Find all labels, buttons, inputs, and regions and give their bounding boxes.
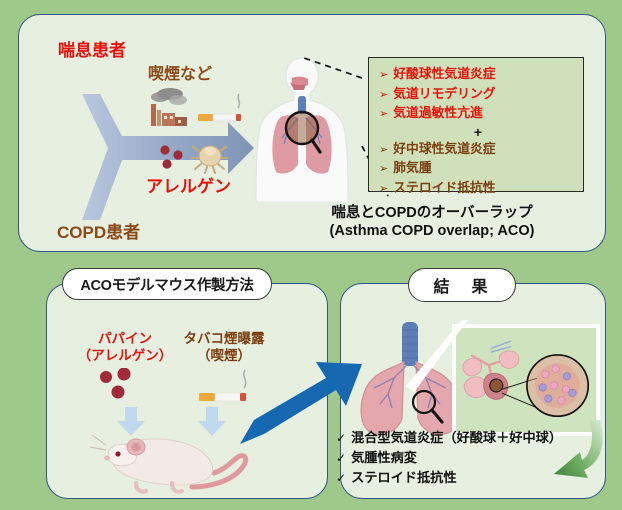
chevron-icon: ➢ xyxy=(379,181,388,199)
chevron-icon: ➢ xyxy=(379,87,388,105)
laboratory-mouse-icon xyxy=(84,425,252,497)
finding-item: ✓ 混合型気道炎症（好酸球＋好中球） xyxy=(336,428,576,448)
features-list-eosinophilic: ➢ 好酸球性気道炎症 ➢ 気道リモデリング ➢ 気道過敏性亢進 xyxy=(379,65,577,124)
dust-mite-icon xyxy=(190,140,230,174)
allergen-label: アレルゲン xyxy=(146,172,231,197)
papain-line-2: （アレルゲン） xyxy=(70,347,180,364)
caption-line-2: (Asthma COPD overlap; ACO) xyxy=(262,222,602,240)
chevron-icon: ➢ xyxy=(379,67,388,85)
copd-patient-label: COPD患者 xyxy=(57,218,140,243)
cigarette-icon xyxy=(195,90,245,128)
tobacco-line-1: タバコ煙曝露 xyxy=(168,330,280,347)
feature-item: ➢ 気道リモデリング xyxy=(379,85,577,105)
factory-smoke-icon xyxy=(144,86,192,128)
smoking-label: 喫煙など xyxy=(148,60,212,84)
figure-canvas: 喘息患者 喫煙など アレルゲン COPD患者 xyxy=(0,0,622,510)
check-icon: ✓ xyxy=(336,469,346,488)
allergen-particles-icon xyxy=(157,143,191,173)
feature-item: ➢ 好中球性気道炎症 xyxy=(379,140,577,160)
chevron-icon: ➢ xyxy=(379,106,388,124)
feature-item: ➢ ステロイド抵抗性 xyxy=(379,179,577,199)
finding-item: ✓ ステロイド抵抗性 xyxy=(336,468,576,488)
chevron-icon: ➢ xyxy=(379,161,388,179)
chevron-icon: ➢ xyxy=(379,142,388,160)
feature-item: ➢ 肺気腫 xyxy=(379,159,577,179)
model-panel-title: ACOモデルマウス作製方法 xyxy=(62,268,272,300)
aco-features-box: ➢ 好酸球性気道炎症 ➢ 気道リモデリング ➢ 気道過敏性亢進 + ➢ 好中球性… xyxy=(368,57,584,192)
papain-line-1: パパイン xyxy=(70,330,180,347)
feature-item: ➢ 気道過敏性亢進 xyxy=(379,104,577,124)
check-icon: ✓ xyxy=(336,429,346,448)
feature-item: ➢ 好酸球性気道炎症 xyxy=(379,65,577,85)
plus-separator: + xyxy=(379,124,577,140)
findings-list: ✓ 混合型気道炎症（好酸球＋好中球） ✓ 気腫性病変 ✓ ステロイド抵抗性 xyxy=(336,428,576,488)
finding-item: ✓ 気腫性病変 xyxy=(336,448,576,468)
features-list-neutrophilic: ➢ 好中球性気道炎症 ➢ 肺気腫 ➢ ステロイド抵抗性 xyxy=(379,140,577,199)
zoom-connector xyxy=(404,318,504,398)
check-icon: ✓ xyxy=(336,449,346,468)
papain-label: パパイン （アレルゲン） xyxy=(70,330,180,364)
aco-caption: 喘息とCOPDのオーバーラップ (Asthma COPD overlap; AC… xyxy=(262,204,602,240)
result-panel-title: 結 果 xyxy=(408,268,516,302)
findings-ul: ✓ 混合型気道炎症（好酸球＋好中球） ✓ 気腫性病変 ✓ ステロイド抵抗性 xyxy=(336,428,576,488)
papain-particles-icon xyxy=(96,368,144,406)
caption-line-1: 喘息とCOPDのオーバーラップ xyxy=(262,204,602,222)
asthma-patient-label: 喘息患者 xyxy=(58,36,126,61)
